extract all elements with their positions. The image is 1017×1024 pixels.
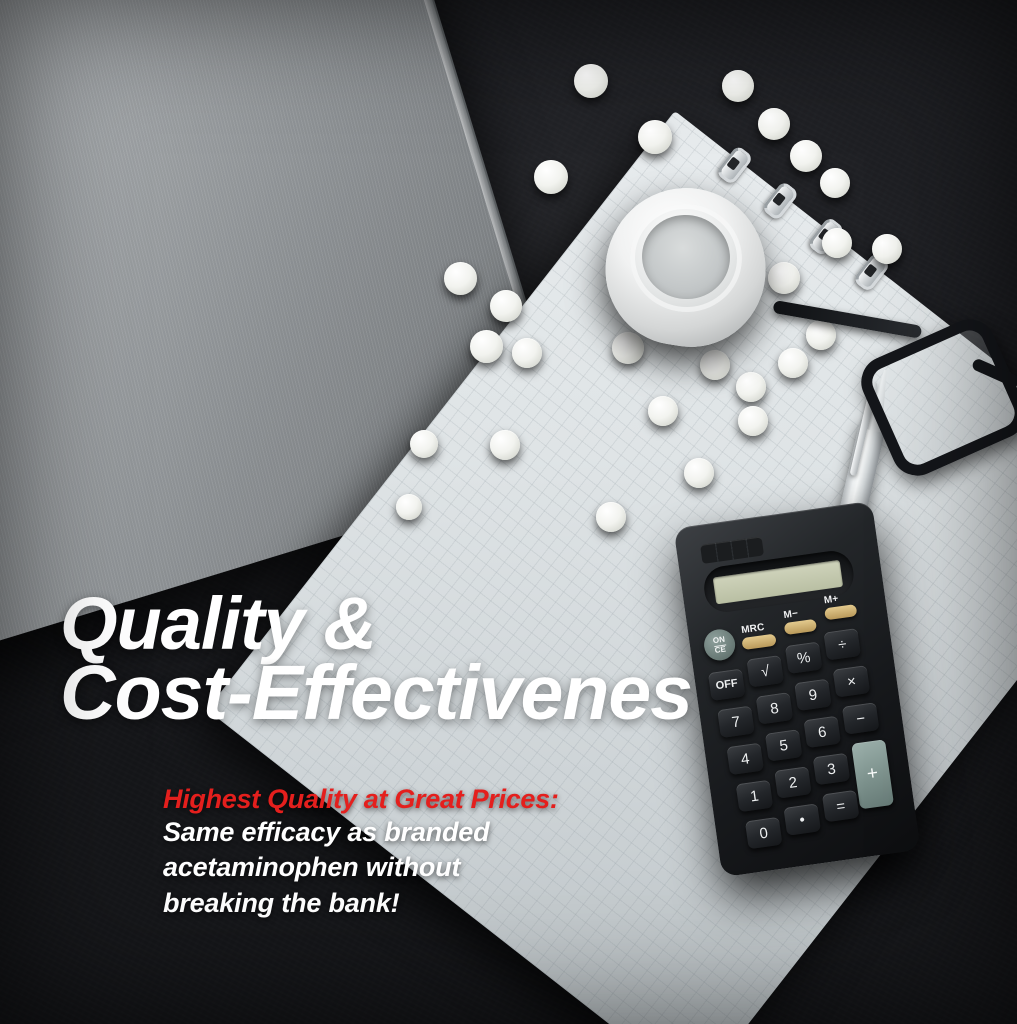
pill-bottle <box>606 188 766 346</box>
body-line-1: Same efficacy as branded <box>163 815 723 851</box>
pill <box>684 458 714 488</box>
pill <box>806 320 836 350</box>
pill <box>700 350 730 380</box>
solar-panel <box>700 536 764 563</box>
calc-key-1[interactable]: 1 <box>736 780 774 812</box>
calc-key-7[interactable]: 7 <box>717 706 755 738</box>
calc-key-off[interactable]: OFF <box>708 669 746 701</box>
pill <box>512 338 542 368</box>
pill <box>768 262 800 294</box>
poster-canvas: ⏻▶▶◀◀−×÷9PgUp8↑7Home+6→54←3PgDn2↓1EndEnt… <box>0 0 1017 1024</box>
calc-key-8[interactable]: 8 <box>756 692 794 724</box>
calc-key-label-memory-minus: M− <box>783 608 799 621</box>
pill <box>736 372 766 402</box>
calc-key-2[interactable]: 2 <box>774 766 812 798</box>
pill <box>444 262 477 295</box>
body-line-3: breaking the bank! <box>163 886 723 922</box>
pill <box>490 430 520 460</box>
calc-key-9[interactable]: 9 <box>794 679 832 711</box>
calc-key-multiply[interactable]: × <box>833 665 871 697</box>
calc-key-minus[interactable]: − <box>842 702 880 734</box>
calc-key-square-root[interactable]: √ <box>746 655 784 687</box>
calc-key-4[interactable]: 4 <box>726 743 764 775</box>
pill <box>820 168 850 198</box>
on-clear-entry-button[interactable]: ON CE <box>702 627 737 662</box>
calc-key-label-memory-recall-clear: MRC <box>741 622 766 636</box>
pill <box>470 330 503 363</box>
pill <box>638 120 672 154</box>
calc-key-label-memory-plus: M+ <box>823 593 839 606</box>
calc-key-6[interactable]: 6 <box>803 716 841 748</box>
ce-label: CE <box>714 645 726 654</box>
subhead-block: Highest Quality at Great Prices: Same ef… <box>163 784 723 922</box>
pill <box>410 430 438 458</box>
pill <box>534 160 568 194</box>
calc-key-plus[interactable]: + <box>851 739 894 809</box>
calc-key-0[interactable]: 0 <box>745 817 783 849</box>
calc-key-decimal[interactable]: • <box>783 803 821 835</box>
pill <box>790 140 822 172</box>
pill <box>574 64 608 98</box>
calc-key-equals[interactable]: = <box>822 790 860 822</box>
body-line-2: acetaminophen without <box>163 850 723 886</box>
pill <box>648 396 678 426</box>
calc-key-percent[interactable]: % <box>785 642 823 674</box>
pill <box>722 70 754 102</box>
pill <box>758 108 790 140</box>
pill <box>778 348 808 378</box>
calc-key-5[interactable]: 5 <box>765 729 803 761</box>
pill <box>596 502 626 532</box>
calc-key-3[interactable]: 3 <box>813 753 851 785</box>
spiral-ring-clip <box>726 156 740 170</box>
pill <box>738 406 768 436</box>
pill <box>490 290 522 322</box>
subhead-red-line: Highest Quality at Great Prices: <box>163 784 723 815</box>
pill <box>822 228 852 258</box>
calc-key-memory-plus[interactable] <box>824 604 857 620</box>
calc-key-memory-recall-clear[interactable] <box>741 634 776 651</box>
spiral-ring-clip <box>772 192 786 206</box>
pill <box>872 234 902 264</box>
calc-key-memory-minus[interactable] <box>784 619 817 635</box>
pill <box>396 494 422 520</box>
calc-key-divide[interactable]: ÷ <box>823 628 861 660</box>
spiral-ring-clip <box>864 264 878 278</box>
